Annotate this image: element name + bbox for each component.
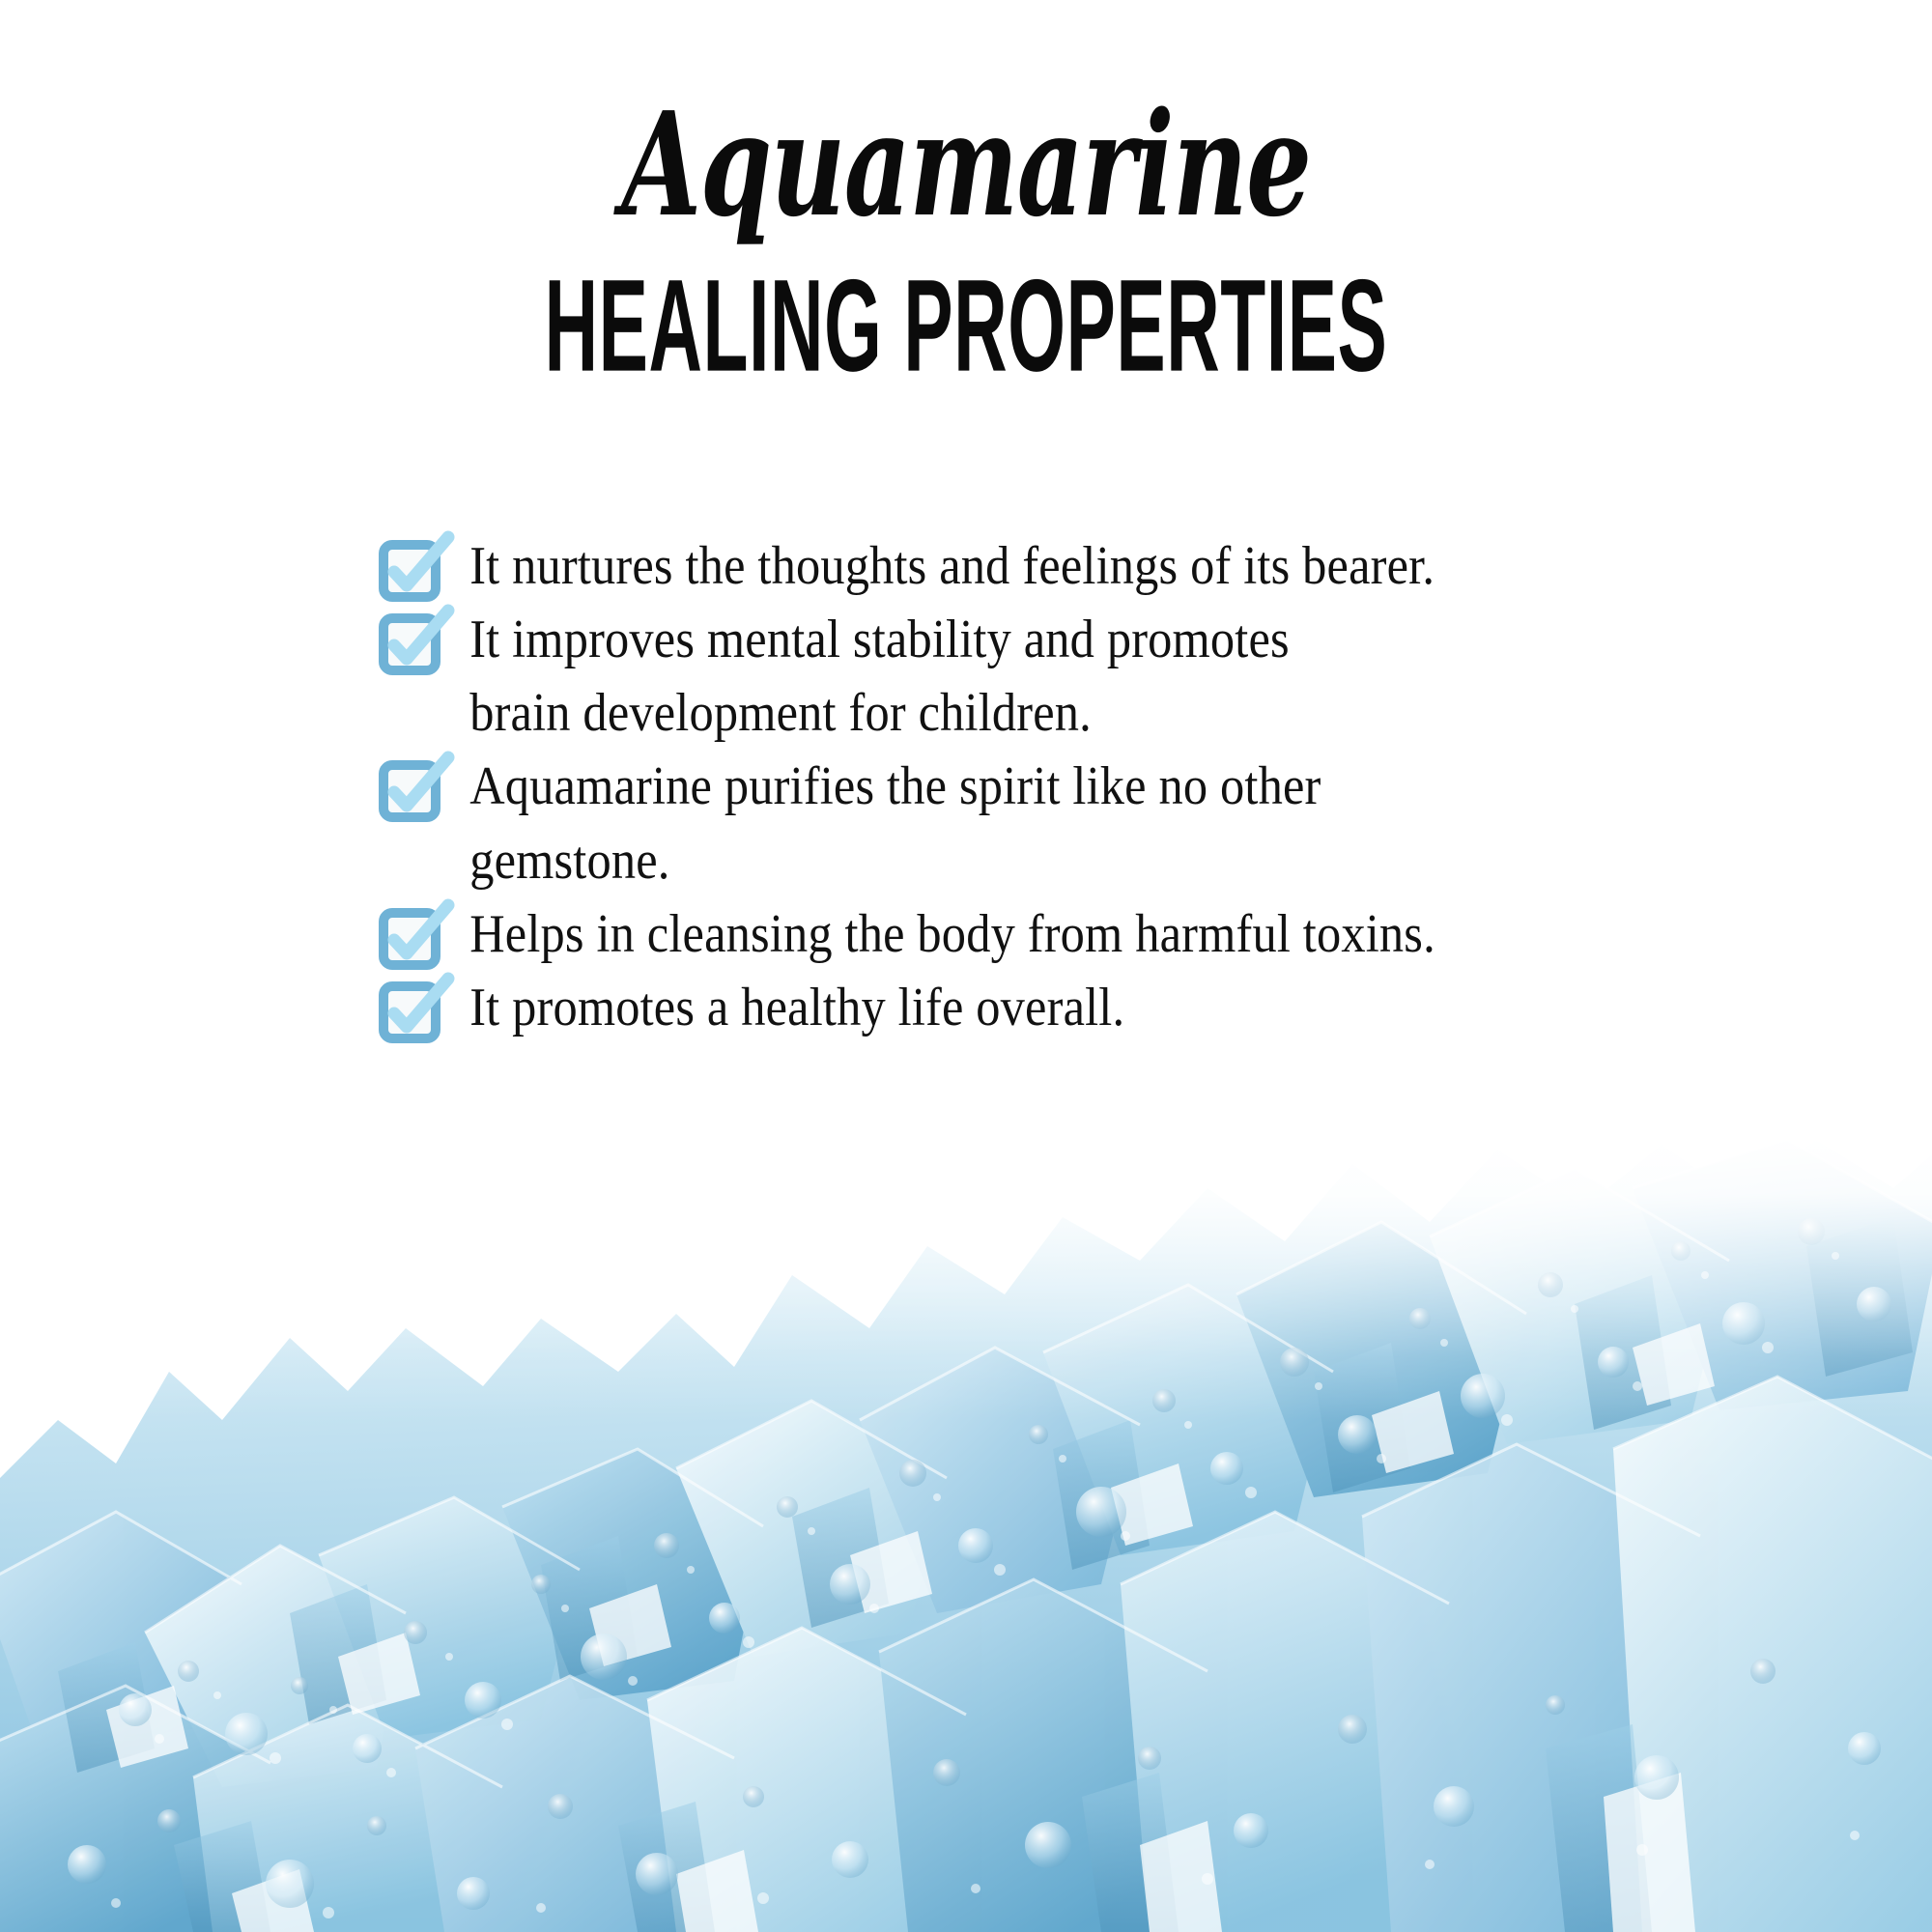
list-item: It nurtures the thoughts and feelings of… — [379, 529, 1615, 603]
list-item: It promotes a healthy life overall. — [379, 971, 1615, 1044]
list-item-label: It nurtures the thoughts and feelings of… — [454, 529, 1499, 603]
healing-properties-list: It nurtures the thoughts and feelings of… — [379, 529, 1615, 1044]
checked-checkbox-icon — [379, 535, 454, 603]
list-item-label: Helps in cleansing the body from harmful… — [454, 897, 1499, 971]
checked-checkbox-icon — [379, 977, 454, 1044]
list-item: Aquamarine purifies the spirit like no o… — [379, 750, 1615, 896]
checked-checkbox-icon — [379, 609, 454, 676]
list-item: It improves mental stability and promote… — [379, 603, 1615, 750]
list-item-label: Aquamarine purifies the spirit like no o… — [454, 750, 1499, 896]
page-subtitle: HEALING PROPERTIES — [386, 261, 1546, 392]
checked-checkbox-icon — [379, 755, 454, 823]
poster: Aquamarine HEALING PROPERTIES It nurture… — [0, 0, 1932, 1932]
list-item-label: It improves mental stability and promote… — [454, 603, 1499, 750]
ice-cubes-photo — [0, 1130, 1932, 1932]
checked-checkbox-icon — [379, 903, 454, 971]
list-item-label: It promotes a healthy life overall. — [454, 971, 1499, 1044]
list-item: Helps in cleansing the body from harmful… — [379, 897, 1615, 971]
page-title: Aquamarine — [270, 93, 1662, 236]
header: Aquamarine HEALING PROPERTIES — [0, 0, 1932, 388]
